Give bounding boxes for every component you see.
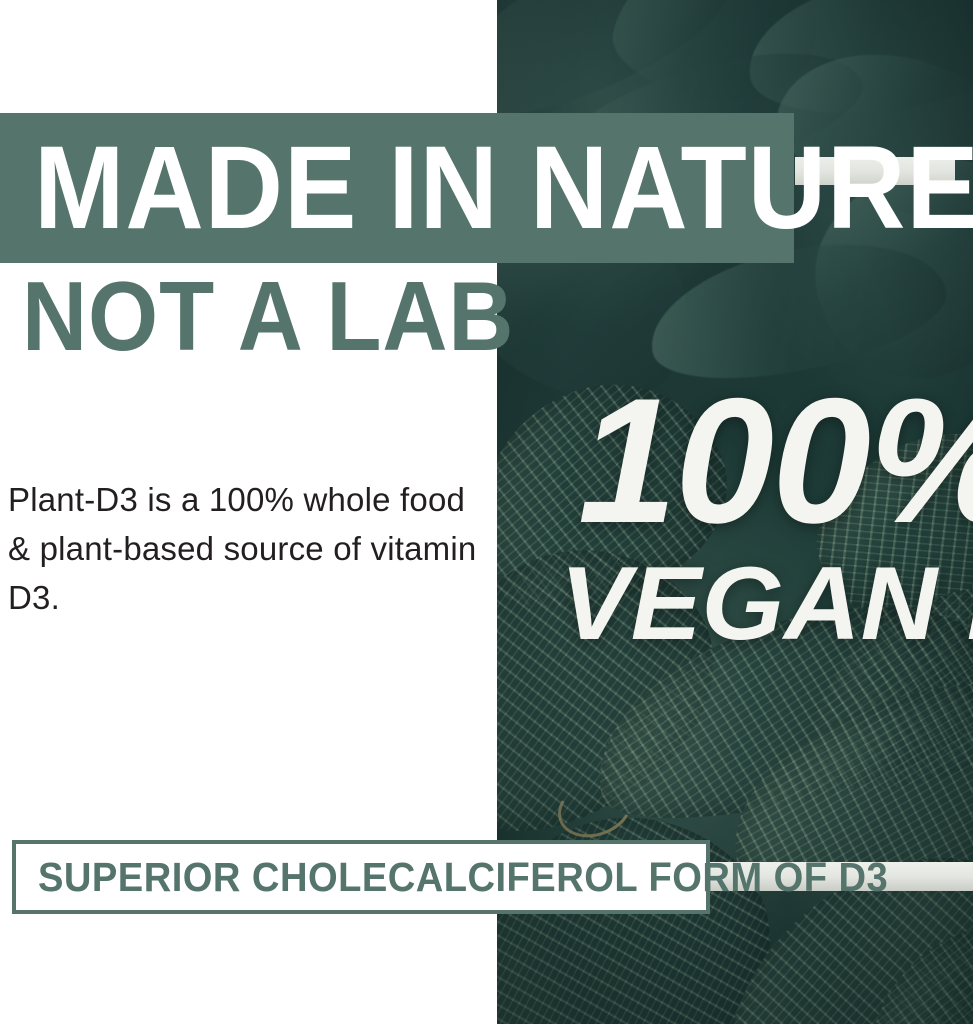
headline-line-1: MADE IN NATURE bbox=[34, 129, 973, 247]
bottom-banner: SUPERIOR CHOLECALCIFEROL FORM OF D3 bbox=[12, 840, 710, 914]
poster-canvas: MADE IN NATURE NOT A LAB Plant-D3 is a 1… bbox=[0, 0, 973, 1024]
hero-subtitle-text: VEGAN D3 bbox=[560, 552, 973, 656]
headline-line-2: NOT A LAB bbox=[22, 267, 514, 365]
body-paragraph: Plant-D3 is a 100% whole food & plant-ba… bbox=[8, 475, 478, 622]
bottom-banner-text: SUPERIOR CHOLECALCIFEROL FORM OF D3 bbox=[38, 857, 888, 898]
headline-block: MADE IN NATURE bbox=[0, 113, 794, 263]
hero-percent-text: 100% bbox=[578, 372, 973, 550]
